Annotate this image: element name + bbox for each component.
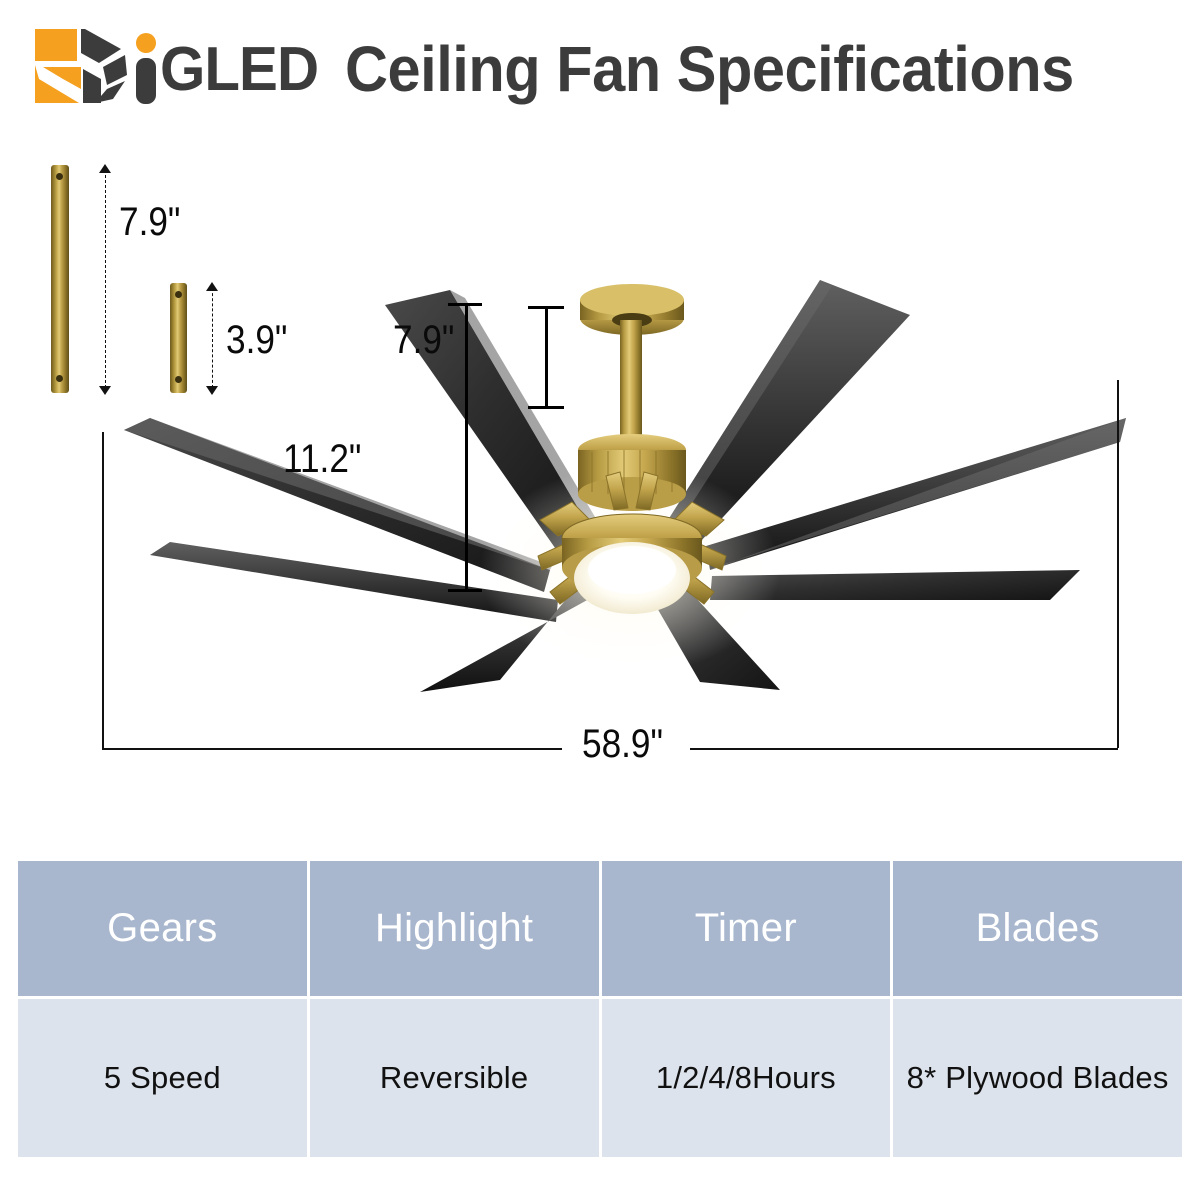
dim-line-span-right bbox=[690, 748, 1118, 750]
table-cell-blades: 8* Plywood Blades bbox=[893, 999, 1182, 1157]
table-cell-highlight: Reversible bbox=[310, 999, 599, 1157]
dim-cap-left-span bbox=[102, 432, 104, 748]
table-row: 5 Speed Reversible 1/2/4/8Hours 8* Plywo… bbox=[18, 999, 1182, 1157]
dim-line-span-left bbox=[102, 748, 562, 750]
table-header-timer: Timer bbox=[602, 861, 891, 996]
long-downrod-image bbox=[51, 165, 69, 393]
dim-line-overall-height bbox=[465, 303, 468, 591]
dim-label-blade-span: 58.9" bbox=[582, 722, 663, 766]
page-title: Ceiling Fan Specifications bbox=[345, 30, 1074, 108]
table-header-blades: Blades bbox=[893, 861, 1182, 996]
dim-cap-bottom-downrod bbox=[528, 406, 564, 409]
logo-letter-i-icon bbox=[133, 32, 159, 104]
table-header-row: Gears Highlight Timer Blades bbox=[18, 861, 1182, 996]
table-cell-gears: 5 Speed bbox=[18, 999, 307, 1157]
dim-line-downrod-long bbox=[105, 170, 106, 388]
aperture-shutter-logo-icon bbox=[33, 27, 129, 105]
table-header-gears: Gears bbox=[18, 861, 307, 996]
table-header-highlight: Highlight bbox=[310, 861, 599, 996]
table-cell-timer: 1/2/4/8Hours bbox=[602, 999, 891, 1157]
ceiling-fan-image bbox=[120, 270, 1130, 700]
dim-arrow-down-downrod-long bbox=[99, 386, 111, 395]
dim-label-overall-height: 11.2" bbox=[283, 437, 361, 481]
dim-cap-bottom-overall bbox=[448, 589, 482, 592]
product-illustration: 7.9" 3.9" bbox=[0, 130, 1200, 830]
page-header: GLED Ceiling Fan Specifications bbox=[0, 0, 1200, 130]
brand-wordmark: GLED bbox=[160, 36, 318, 104]
dim-label-long-downrod: 7.9" bbox=[119, 200, 180, 244]
dim-label-downrod-height: 7.9" bbox=[393, 318, 454, 362]
specifications-table: Gears Highlight Timer Blades 5 Speed Rev… bbox=[15, 858, 1185, 1160]
dim-line-downrod-height bbox=[545, 306, 548, 408]
dim-cap-right-span bbox=[1117, 380, 1119, 748]
